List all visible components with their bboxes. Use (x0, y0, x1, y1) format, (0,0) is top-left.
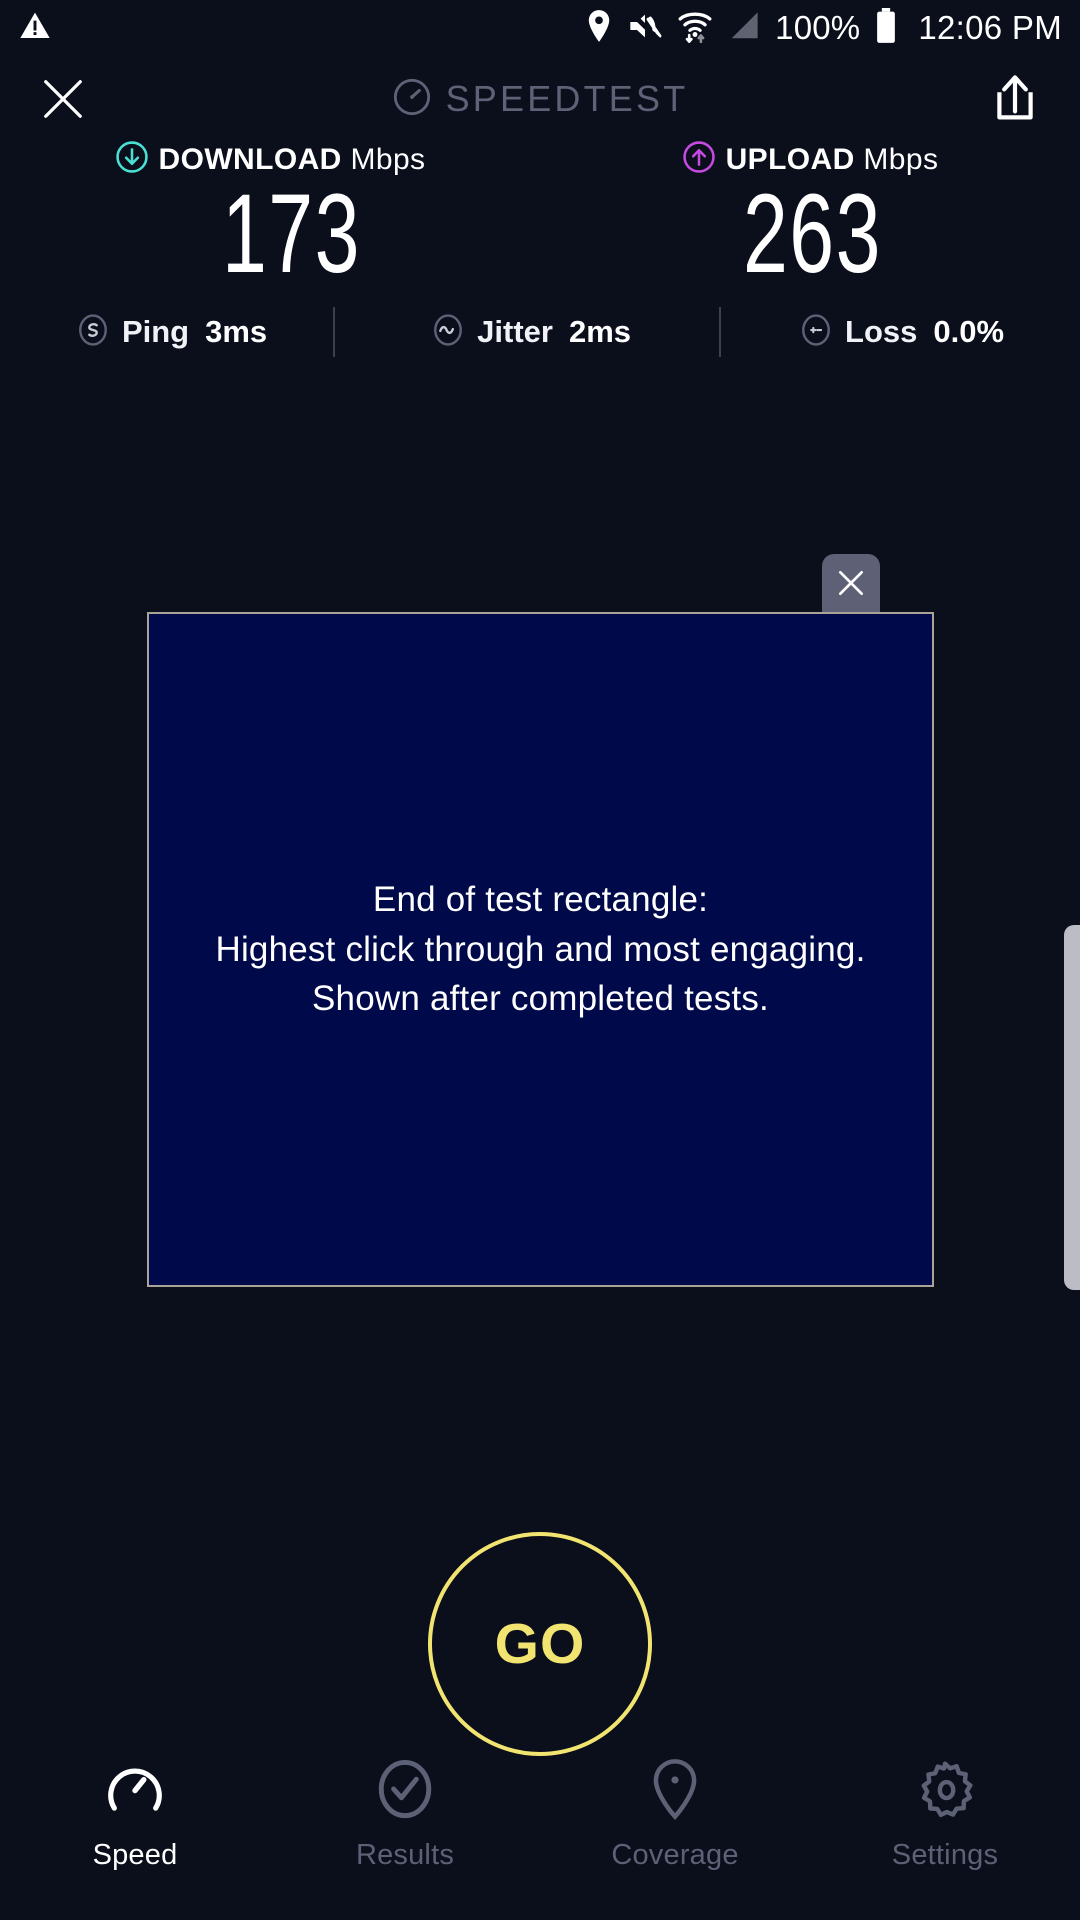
ad-text: End of test rectangle: Highest click thr… (201, 875, 879, 1024)
upload-value: 263 (743, 177, 882, 291)
advertisement: End of test rectangle: Highest click thr… (147, 612, 934, 1287)
stat-loss-value: 0.0% (933, 314, 1004, 350)
download-result: DOWNLOAD Mbps 173 (0, 140, 540, 291)
go-button[interactable]: GO (428, 1532, 652, 1756)
ad-banner[interactable]: End of test rectangle: Highest click thr… (147, 612, 934, 1287)
share-icon (992, 73, 1038, 125)
location-pin-icon (644, 1758, 706, 1825)
speedometer-icon (104, 1758, 166, 1825)
nav-label-results: Results (356, 1839, 454, 1872)
go-button-label: GO (495, 1611, 586, 1677)
nav-label-settings: Settings (892, 1839, 998, 1872)
vertical-scrollbar[interactable] (1064, 925, 1080, 1290)
stat-ping-value: 3ms (205, 314, 267, 350)
gear-icon (914, 1758, 976, 1825)
location-pin-icon (585, 9, 613, 48)
upload-result: UPLOAD Mbps 263 (540, 140, 1080, 291)
loss-icon (799, 313, 833, 352)
download-value: 173 (222, 177, 361, 291)
app-header: SPEEDTEST (0, 56, 1080, 142)
app-screen: 100% 12:06 PM S (0, 0, 1080, 1920)
status-bar-right: 100% 12:06 PM (585, 8, 1062, 49)
stat-loss: Loss 0.0% (799, 313, 1004, 352)
status-bar-left (18, 10, 52, 47)
share-button[interactable] (984, 66, 1046, 132)
battery-full-icon (874, 8, 898, 49)
ping-icon (76, 313, 110, 352)
nav-item-speed[interactable]: Speed (0, 1758, 270, 1872)
battery-percent-label: 100% (775, 9, 860, 47)
ad-text-line-1: End of test rectangle: (215, 875, 865, 925)
wifi-icon (677, 9, 713, 48)
ad-close-button[interactable] (822, 554, 880, 612)
bottom-navigation: Speed Results Coverage (0, 1742, 1080, 1920)
check-circle-icon (374, 1758, 436, 1825)
nav-item-settings[interactable]: Settings (810, 1758, 1080, 1872)
nav-item-results[interactable]: Results (270, 1758, 540, 1872)
close-icon (835, 567, 867, 599)
ad-text-line-2: Highest click through and most engaging. (215, 925, 865, 975)
network-stats-row: Ping 3ms Jitter 2ms (0, 302, 1080, 362)
ad-text-line-3: Shown after completed tests. (215, 974, 865, 1024)
stat-ping-label: Ping (122, 314, 189, 350)
nav-label-speed: Speed (93, 1839, 178, 1872)
stat-divider (333, 307, 335, 357)
nav-item-coverage[interactable]: Coverage (540, 1758, 810, 1872)
status-bar: 100% 12:06 PM (0, 0, 1080, 56)
stat-ping: Ping 3ms (76, 313, 267, 352)
arrow-up-circle-icon (682, 140, 716, 179)
nav-label-coverage: Coverage (611, 1839, 738, 1872)
arrow-down-circle-icon (115, 140, 149, 179)
stat-jitter-value: 2ms (569, 314, 631, 350)
jitter-icon (431, 313, 465, 352)
status-bar-clock: 12:06 PM (918, 9, 1062, 47)
page-title: SPEEDTEST (446, 78, 689, 120)
stat-divider (719, 307, 721, 357)
stat-jitter-label: Jitter (477, 314, 553, 350)
brand-logo: SPEEDTEST (0, 77, 1080, 122)
mute-icon (627, 10, 663, 47)
speed-results: DOWNLOAD Mbps 173 UPLOAD Mbps 263 (0, 140, 1080, 291)
warning-triangle-icon (18, 10, 52, 47)
speedometer-icon (392, 77, 432, 122)
stat-jitter: Jitter 2ms (431, 313, 631, 352)
download-label-unit: Mbps (350, 143, 425, 176)
stat-loss-label: Loss (845, 314, 917, 350)
cellular-signal-icon (727, 11, 761, 46)
